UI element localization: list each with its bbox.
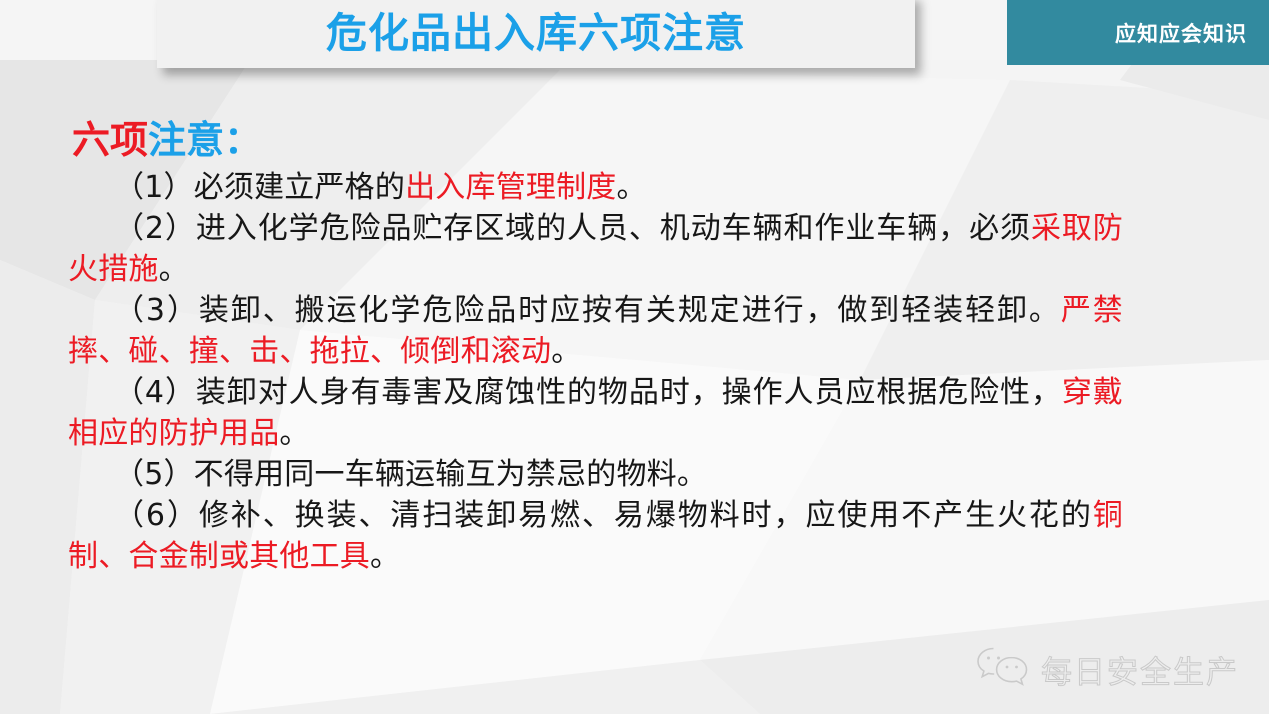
notice-text-segment: 。 (370, 539, 400, 574)
category-badge: 应知应会知识 (1007, 0, 1269, 65)
notice-list: （1）必须建立严格的出入库管理制度。（2）进入化学危险品贮存区域的人员、机动车辆… (0, 167, 1269, 577)
notice-text-segment: 。 (279, 416, 309, 451)
watermark-label: 每日安全生产 (1041, 647, 1239, 692)
notice-list-item: （1）必须建立严格的出入库管理制度。 (68, 167, 1269, 208)
notice-list-item: （4）装卸对人身有毒害及腐蚀性的物品时，操作人员应根据危险性，穿戴相应的防护用品… (68, 372, 1269, 454)
slide-title-panel: 危化品出入库六项注意 (157, 0, 915, 68)
watermark: 每日安全生产 (975, 645, 1239, 693)
notice-text-segment: （6）修补、换装、清扫装卸易燃、易爆物料时，应使用不产生火花的 (114, 498, 1093, 533)
notice-text-segment: （1）必须建立严格的 (114, 170, 405, 205)
slide-content: 六项注意： （1）必须建立严格的出入库管理制度。（2）进入化学危险品贮存区域的人… (0, 120, 1269, 577)
notice-list-item: （6）修补、换装、清扫装卸易燃、易爆物料时，应使用不产生火花的铜制、合金制或其他… (68, 495, 1269, 577)
notice-text-segment: 。 (551, 334, 581, 369)
page-title: 危化品出入库六项注意 (326, 9, 746, 54)
notice-list-item: （5）不得用同一车辆运输互为禁忌的物料。 (68, 454, 1269, 495)
notice-list-item: （3）装卸、搬运化学危险品时应按有关规定进行，做到轻装轻卸。严禁摔、碰、撞、击、… (68, 290, 1269, 372)
notice-text-segment: （5）不得用同一车辆运输互为禁忌的物料。 (114, 457, 707, 492)
section-heading-red: 六项 (72, 118, 148, 162)
notice-text-segment: （3）装卸、搬运化学危险品时应按有关规定进行，做到轻装轻卸。 (114, 293, 1061, 328)
notice-text-segment: （2）进入化学危险品贮存区域的人员、机动车辆和作业车辆，必须 (114, 211, 1031, 246)
section-heading: 六项注意： (72, 120, 1269, 161)
notice-text-segment: 。 (617, 170, 647, 205)
notice-text-segment: （4）装卸对人身有毒害及腐蚀性的物品时，操作人员应根据危险性， (114, 375, 1062, 410)
section-heading-blue: 注意： (148, 118, 262, 162)
slide-canvas: 危化品出入库六项注意 应知应会知识 六项注意： （1）必须建立严格的出入库管理制… (0, 0, 1269, 714)
category-badge-label: 应知应会知识 (1115, 18, 1269, 48)
notice-text-segment: 。 (159, 252, 189, 287)
notice-text-segment: 出入库管理制度 (405, 170, 616, 205)
wechat-icon (975, 645, 1031, 693)
notice-list-item: （2）进入化学危险品贮存区域的人员、机动车辆和作业车辆，必须采取防火措施。 (68, 208, 1269, 290)
